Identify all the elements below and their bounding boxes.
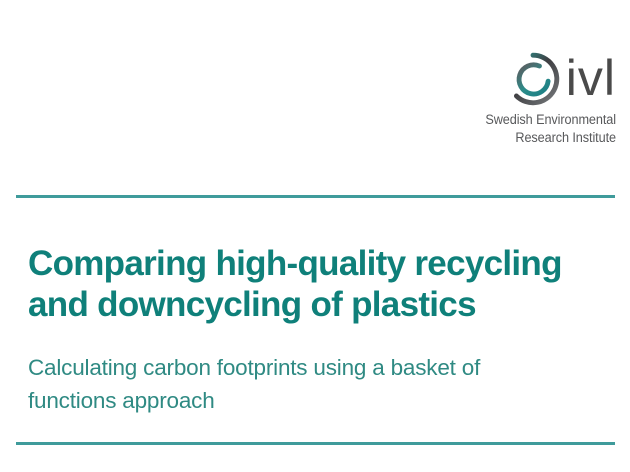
ivl-logo-block: ivl Swedish Environmental Research Insti… [477,52,616,147]
logo-tagline: Swedish Environmental Research Institute [485,111,616,147]
title-slide: ivl Swedish Environmental Research Insti… [0,0,630,472]
logo-row: ivl [506,52,616,106]
bottom-divider [16,442,615,445]
logo-tagline-line-1: Swedish Environmental [485,111,616,129]
logo-wordmark: ivl [566,54,616,102]
page-subtitle: Calculating carbon footprints using a ba… [28,352,528,417]
ivl-spiral-logo-icon [506,52,560,106]
top-divider [16,195,615,198]
logo-tagline-line-2: Research Institute [485,129,616,147]
page-title: Comparing high-quality recycling and dow… [28,243,603,326]
